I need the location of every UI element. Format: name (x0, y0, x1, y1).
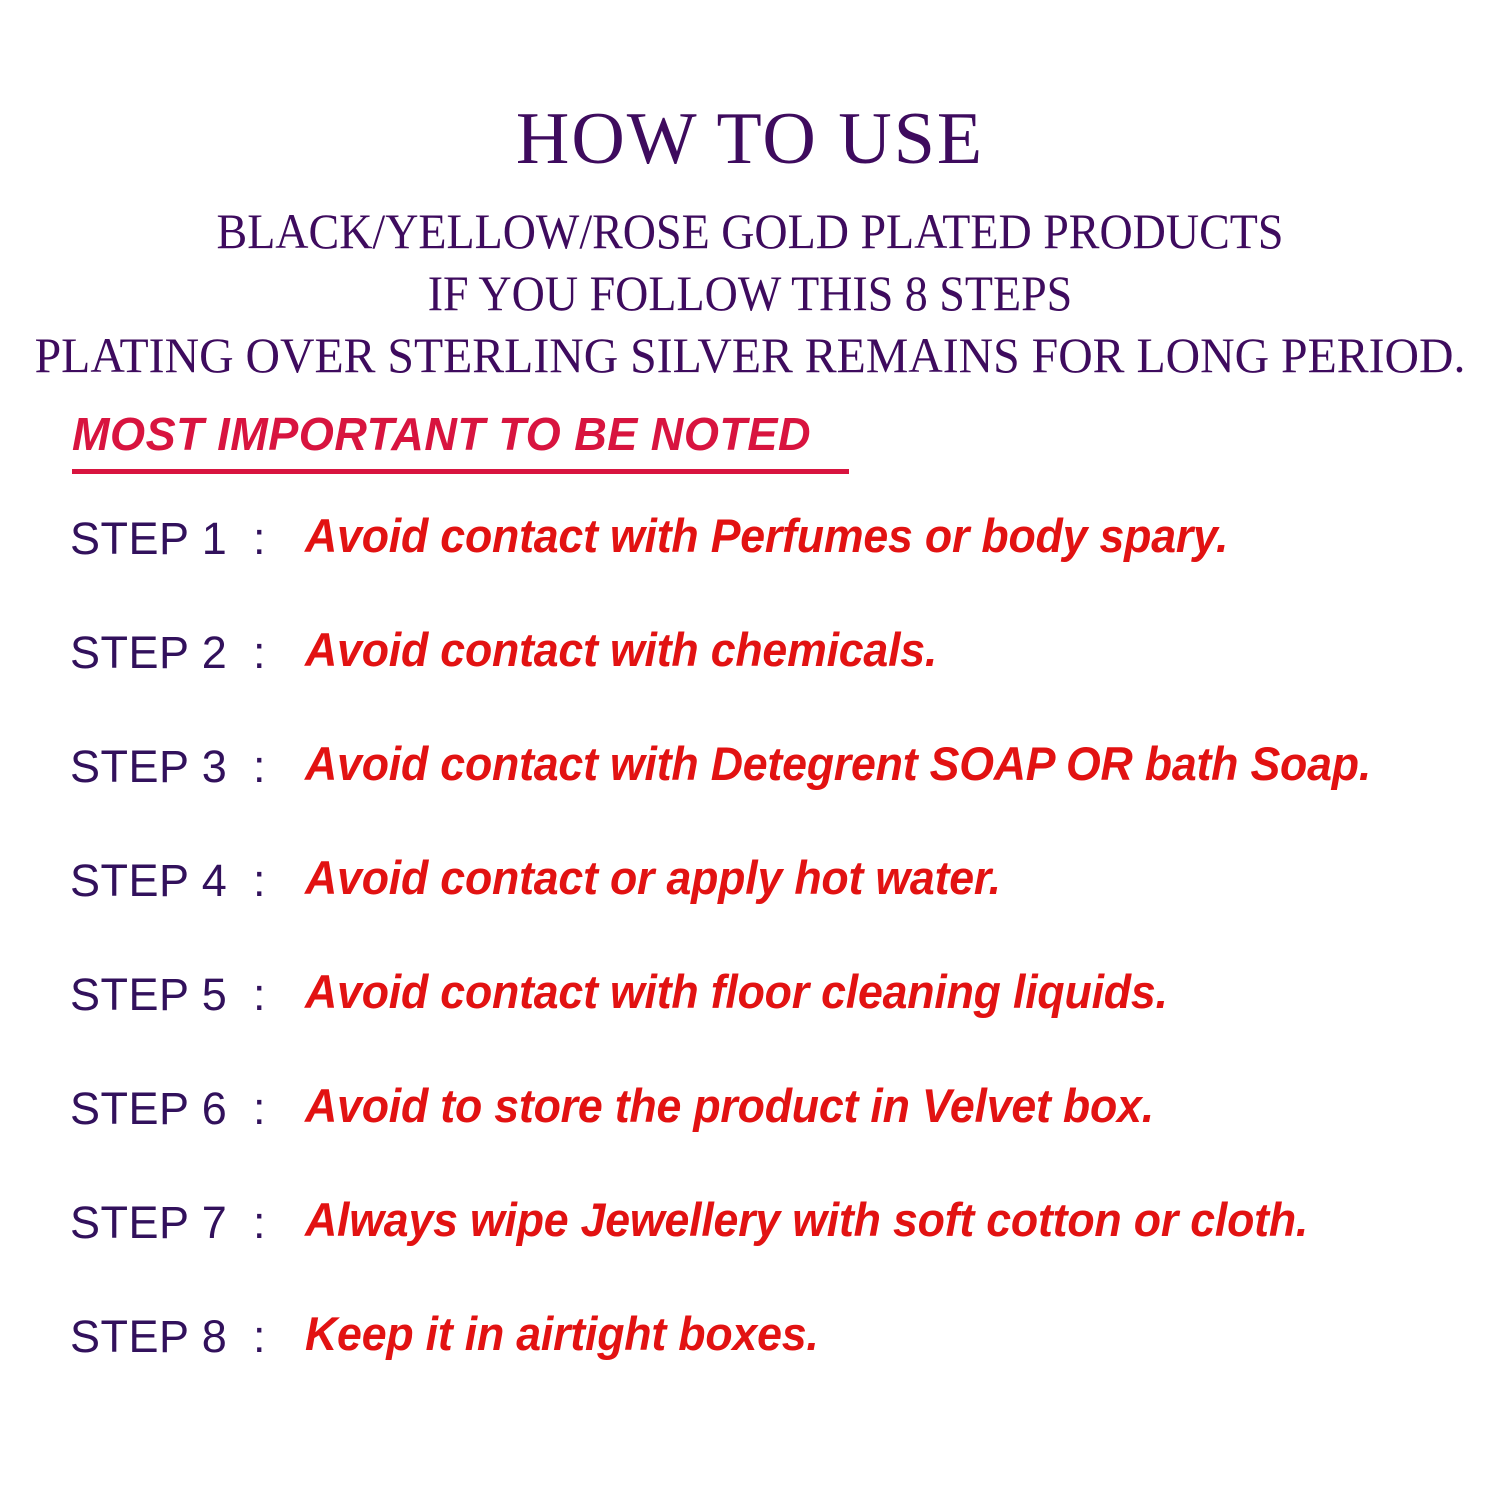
step-label: STEP 7 (70, 1200, 227, 1245)
step-label: STEP 4 (70, 858, 227, 903)
step-description: Always wipe Jewellery with soft cotton o… (305, 1196, 1308, 1243)
step-label: STEP 6 (70, 1086, 227, 1131)
subtitle-line-3: PLATING OVER STERLING SILVER REMAINS FOR… (34, 330, 1467, 380)
step-description: Avoid contact or apply hot water. (305, 854, 1001, 901)
step-colon: : (253, 972, 266, 1017)
notice-underline (72, 469, 849, 474)
header-block: HOW TO USE BLACK/YELLOW/ROSE GOLD PLATED… (0, 0, 1500, 380)
step-colon: : (253, 1314, 266, 1359)
step-colon: : (253, 516, 266, 561)
step-row: STEP 6 : Avoid to store the product in V… (0, 1086, 1500, 1200)
step-row: STEP 4 : Avoid contact or apply hot wate… (0, 858, 1500, 972)
step-row: STEP 8 : Keep it in airtight boxes. (0, 1314, 1500, 1428)
step-label: STEP 5 (70, 972, 227, 1017)
step-description: Avoid contact with floor cleaning liquid… (305, 968, 1168, 1015)
subtitle-block: BLACK/YELLOW/ROSE GOLD PLATED PRODUCTS I… (0, 206, 1500, 380)
step-description: Avoid contact with Detegrent SOAP OR bat… (305, 740, 1371, 787)
page-title: HOW TO USE (0, 0, 1500, 176)
step-colon: : (253, 1086, 266, 1131)
step-description: Avoid contact with Perfumes or body spar… (305, 512, 1228, 559)
subtitle-line-1: BLACK/YELLOW/ROSE GOLD PLATED PRODUCTS (60, 206, 1440, 256)
step-description: Avoid to store the product in Velvet box… (305, 1082, 1154, 1129)
step-row: STEP 7 : Always wipe Jewellery with soft… (0, 1200, 1500, 1314)
step-colon: : (253, 744, 266, 789)
step-colon: : (253, 858, 266, 903)
step-label: STEP 8 (70, 1314, 227, 1359)
step-colon: : (253, 1200, 266, 1245)
step-row: STEP 1 : Avoid contact with Perfumes or … (0, 516, 1500, 630)
step-colon: : (253, 630, 266, 675)
step-label: STEP 3 (70, 744, 227, 789)
step-label: STEP 1 (70, 516, 227, 561)
most-important-notice: MOST IMPORTANT TO BE NOTED (72, 410, 849, 474)
step-row: STEP 5 : Avoid contact with floor cleani… (0, 972, 1500, 1086)
subtitle-line-2: IF YOU FOLLOW THIS 8 STEPS (60, 268, 1440, 318)
step-description: Avoid contact with chemicals. (305, 626, 937, 673)
step-row: STEP 3 : Avoid contact with Detegrent SO… (0, 744, 1500, 858)
steps-list: STEP 1 : Avoid contact with Perfumes or … (0, 516, 1500, 1428)
instruction-card: HOW TO USE BLACK/YELLOW/ROSE GOLD PLATED… (0, 0, 1500, 1500)
step-row: STEP 2 : Avoid contact with chemicals. (0, 630, 1500, 744)
step-description: Keep it in airtight boxes. (305, 1310, 819, 1357)
step-label: STEP 2 (70, 630, 227, 675)
notice-label: MOST IMPORTANT TO BE NOTED (72, 410, 811, 458)
